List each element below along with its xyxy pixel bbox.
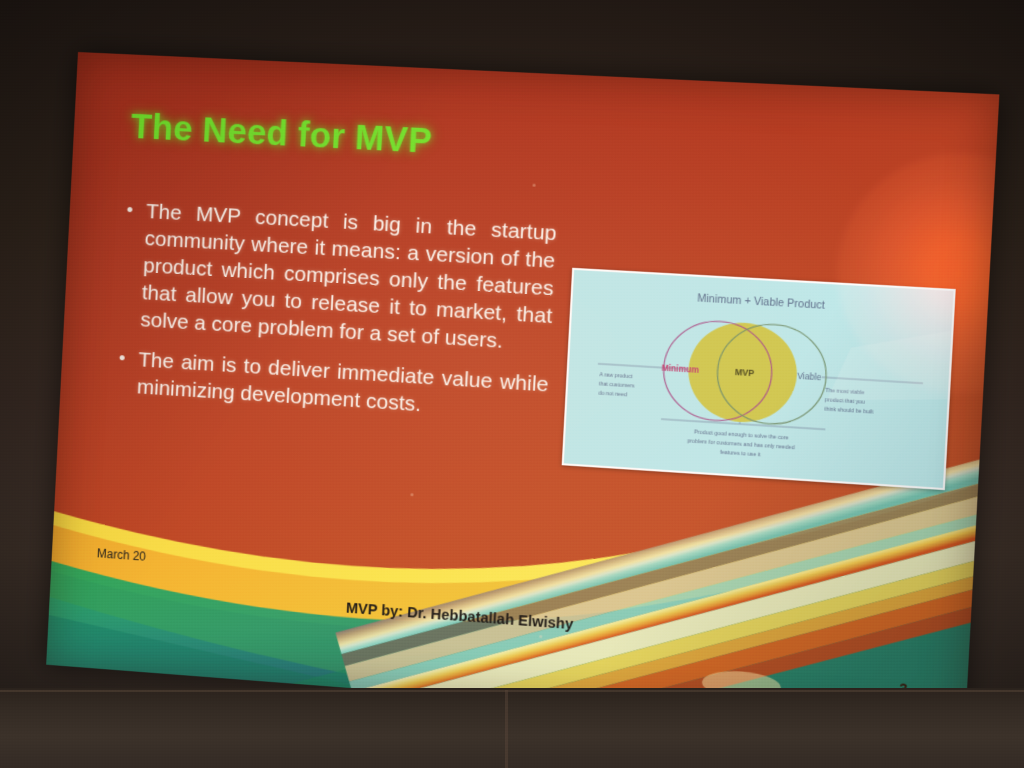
bullet-marker-icon: • bbox=[126, 197, 147, 225]
list-item: • The MVP concept is big in the startup … bbox=[120, 197, 557, 358]
bullet-marker-icon: • bbox=[118, 345, 139, 373]
bullet-text: The MVP concept is big in the startup co… bbox=[140, 198, 558, 358]
venn-label-mvp: MVP bbox=[735, 367, 755, 379]
bullet-list: • The MVP concept is big in the startup … bbox=[116, 197, 557, 440]
projected-slide: The Need for MVP • The MVP concept is bi… bbox=[46, 52, 999, 735]
list-item: • The aim is to deliver immediate value … bbox=[117, 345, 550, 426]
wall-panel-seam bbox=[505, 690, 508, 768]
bullet-text: The aim is to deliver immediate value wh… bbox=[136, 346, 549, 426]
venn-diagram-image: Minimum + Viable Product bbox=[562, 268, 956, 490]
room-scene: The Need for MVP • The MVP concept is bi… bbox=[0, 0, 1024, 768]
projection-area: The Need for MVP • The MVP concept is bi… bbox=[0, 0, 1024, 768]
venn-diagram-canvas: Minimum + Viable Product bbox=[564, 270, 954, 488]
venn-label-viable: Viable bbox=[797, 371, 822, 383]
wall-ledge-line bbox=[0, 690, 1024, 692]
wall-lower-band bbox=[0, 688, 1024, 768]
